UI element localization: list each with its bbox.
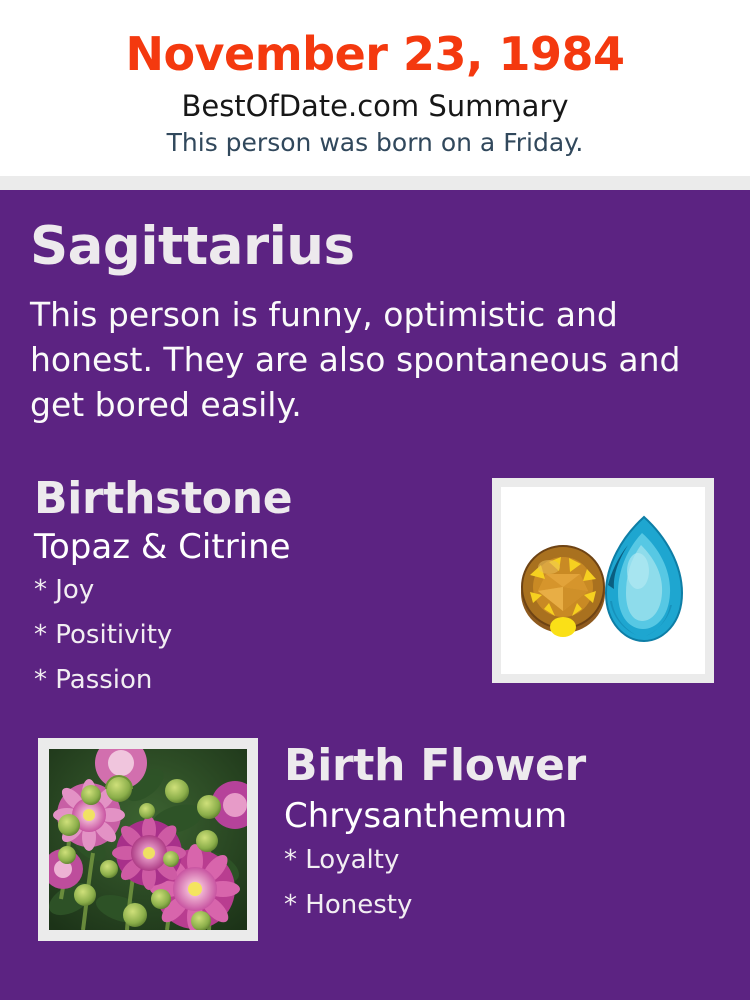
list-item: * Honesty: [284, 883, 744, 928]
header-divider: [0, 176, 750, 190]
birth-flower-trait-list: * Loyalty * Honesty: [284, 838, 744, 928]
birthstone-image-frame: [492, 478, 714, 683]
birth-flower-heading: Birth Flower: [284, 738, 744, 794]
birthstone-heading: Birthstone: [34, 472, 474, 526]
list-item: * Positivity: [34, 613, 474, 658]
birthstone-image: [501, 487, 705, 674]
birth-flower-image: [49, 749, 247, 930]
birthstone-trait-list: * Joy * Positivity * Passion: [34, 568, 474, 703]
list-item: * Joy: [34, 568, 474, 613]
header: November 23, 1984 BestOfDate.com Summary…: [0, 0, 750, 176]
summary-card: November 23, 1984 BestOfDate.com Summary…: [0, 0, 750, 1000]
birth-flower-image-frame: [38, 738, 258, 941]
zodiac-sign-title: Sagittarius: [30, 218, 355, 276]
birthstone-text-column: Birthstone Topaz & Citrine * Joy * Posit…: [34, 472, 474, 703]
site-summary-label: BestOfDate.com Summary: [0, 82, 750, 124]
list-item: * Passion: [34, 658, 474, 703]
list-item: * Loyalty: [284, 838, 744, 883]
gem-pair-icon: [501, 487, 705, 674]
birthstone-name: Topaz & Citrine: [34, 526, 474, 568]
zodiac-description: This person is funny, optimistic and hon…: [30, 292, 730, 427]
chrysanthemum-icon: [49, 749, 247, 930]
birth-flower-name: Chrysanthemum: [284, 794, 744, 838]
birth-flower-text-column: Birth Flower Chrysanthemum * Loyalty * H…: [284, 738, 744, 928]
born-day-label: This person was born on a Friday.: [0, 124, 750, 159]
page-title: November 23, 1984: [0, 0, 750, 82]
